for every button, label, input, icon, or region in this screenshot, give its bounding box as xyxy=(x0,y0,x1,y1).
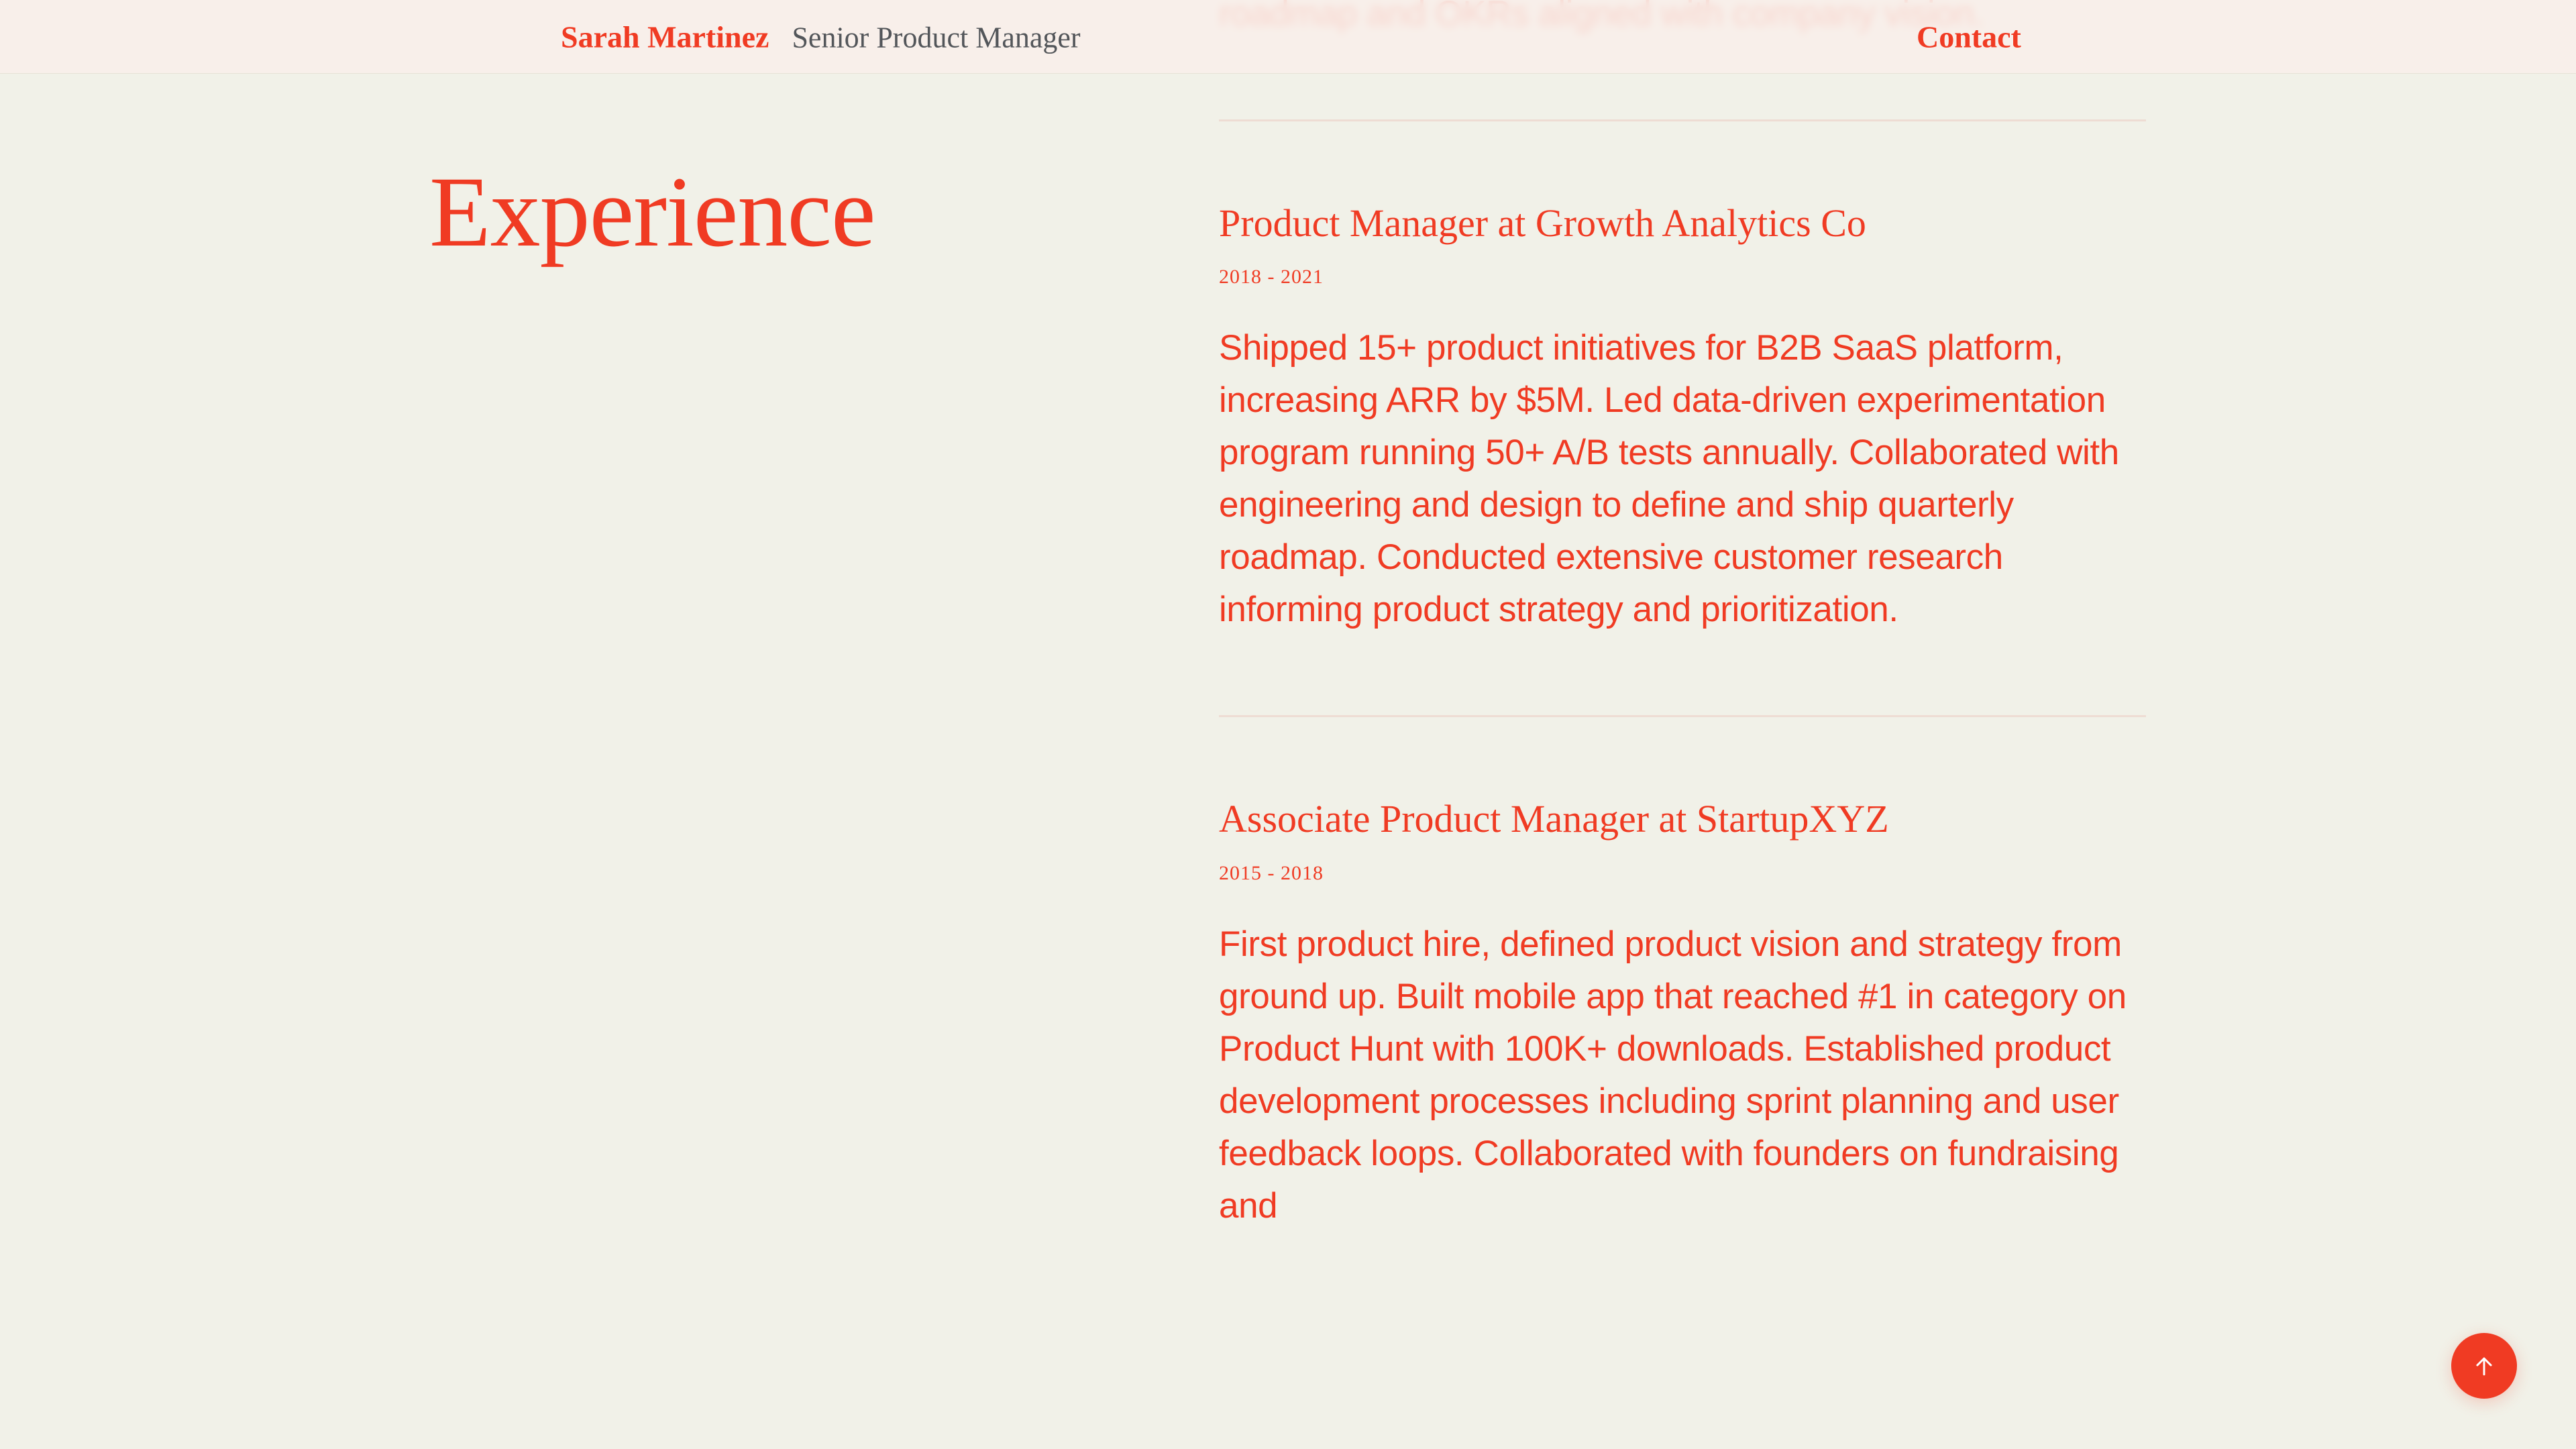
page-title: Experience xyxy=(429,160,875,266)
brand-name[interactable]: Sarah Martinez xyxy=(561,19,769,54)
experience-entry-description: First product hire, defined product visi… xyxy=(1219,918,2146,1232)
experience-entry-dates: 2018 - 2021 xyxy=(1219,264,2146,290)
experience-entry: Product Manager at Growth Analytics Co 2… xyxy=(1219,201,2146,636)
experience-entry-title: Product Manager at Growth Analytics Co xyxy=(1219,201,2146,246)
page-root: Experience engineers, designers, and ana… xyxy=(0,0,2576,1449)
section-divider xyxy=(1219,119,2146,121)
experience-list: engineers, designers, and analysts. Defi… xyxy=(1219,0,2146,1232)
experience-entry-description: Shipped 15+ product initiatives for B2B … xyxy=(1219,322,2146,636)
brand-role: Senior Product Manager xyxy=(792,20,1080,54)
brand[interactable]: Sarah Martinez Senior Product Manager xyxy=(561,19,1081,54)
primary-nav: Contact xyxy=(1917,19,2576,54)
experience-entry-dates: 2015 - 2018 xyxy=(1219,860,2146,886)
site-header: Sarah Martinez Senior Product Manager Co… xyxy=(0,0,2576,74)
arrow-up-icon xyxy=(2469,1351,2499,1381)
experience-entry-title: Associate Product Manager at StartupXYZ xyxy=(1219,796,2146,842)
experience-entry: Associate Product Manager at StartupXYZ … xyxy=(1219,796,2146,1232)
back-to-top-button[interactable] xyxy=(2451,1333,2517,1399)
section-divider xyxy=(1219,715,2146,717)
nav-link-contact[interactable]: Contact xyxy=(1917,19,2021,54)
